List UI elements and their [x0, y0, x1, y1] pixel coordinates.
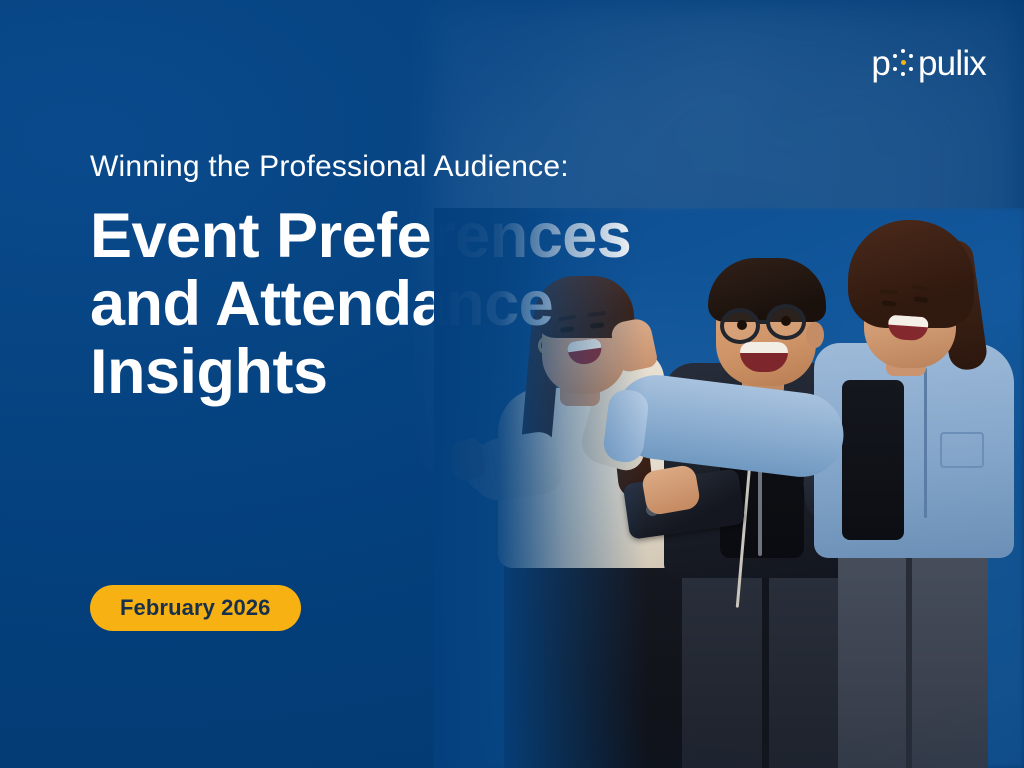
report-cover-slide: p pulix Winning the Professional Audienc… [0, 0, 1024, 768]
cover-copy-block: Winning the Professional Audience: Event… [90, 148, 790, 406]
cover-eyebrow: Winning the Professional Audience: [90, 148, 790, 186]
logo-text-right: pulix [918, 46, 986, 81]
photo-subject-woman-right [764, 208, 1024, 768]
cover-headline: Event Preferences and Attendance Insight… [90, 202, 730, 406]
date-badge: February 2026 [90, 585, 301, 631]
logo-text-left: p [871, 46, 890, 81]
logo-dot-grid-icon [891, 50, 917, 77]
populix-logo[interactable]: p pulix [871, 44, 986, 82]
